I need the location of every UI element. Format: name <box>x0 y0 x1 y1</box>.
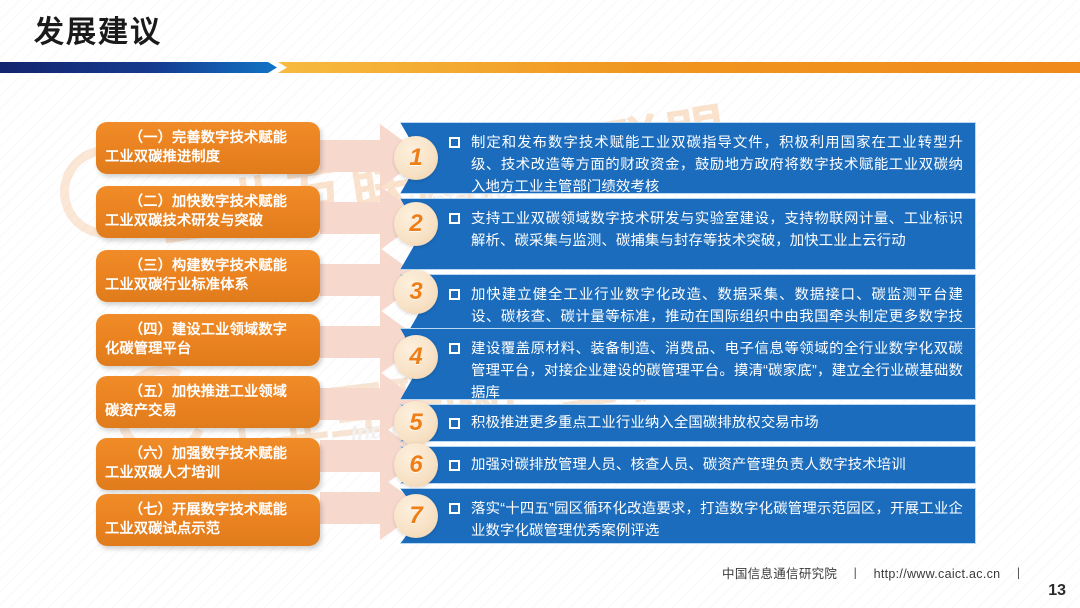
detail-text: 落实“十四五”园区循环化改造要求，打造数字化碳管理示范园区，开展工业企业数字化碳… <box>471 498 963 542</box>
detail-text: 积极推进更多重点工业行业纳入全国碳排放权交易市场 <box>471 412 963 434</box>
hollow-square-bullet-icon <box>449 418 460 429</box>
detail-panel-7[interactable]: 落实“十四五”园区循环化改造要求，打造数字化碳管理示范园区，开展工业企业数字化碳… <box>400 488 976 544</box>
recommendation-pill-6[interactable]: （六）加强数字技术赋能 工业双碳人才培训 <box>96 438 320 490</box>
step-number-badge-7: 7 <box>394 494 438 538</box>
detail-panel-2[interactable]: 支持工业双碳领域数字技术研发与实验室建设，支持物联网计量、工业标识解析、碳采集与… <box>400 198 976 270</box>
step-number-badge-1: 1 <box>394 136 438 180</box>
step-number: 6 <box>409 453 422 477</box>
detail-panel-4[interactable]: 建设覆盖原材料、装备制造、消费品、电子信息等领域的全行业数字化双碳管理平台，对接… <box>400 328 976 400</box>
hollow-square-bullet-icon <box>449 503 460 514</box>
slide-canvas: 发展建议 工业互联网产业联盟 Industrial Internet 工业互联网… <box>0 0 1080 608</box>
detail-panel-6[interactable]: 加强对碳排放管理人员、核查人员、碳资产管理负责人数字技术培训 <box>400 446 976 484</box>
page-number: 13 <box>1048 582 1066 600</box>
hollow-square-bullet-icon <box>449 460 460 471</box>
pill-line1: （二）加快数字技术赋能 <box>105 193 311 212</box>
detail-text: 加强对碳排放管理人员、核查人员、碳资产管理负责人数字技术培训 <box>471 454 963 476</box>
pill-line2: 工业双碳人才培训 <box>105 464 311 483</box>
recommendation-pill-5[interactable]: （五）加快推进工业领域 碳资产交易 <box>96 376 320 428</box>
recommendation-pill-2[interactable]: （二）加快数字技术赋能 工业双碳技术研发与突破 <box>96 186 320 238</box>
step-number-badge-5: 5 <box>394 401 438 445</box>
footer-separator-2: 丨 <box>1012 567 1025 581</box>
step-number: 3 <box>409 280 422 304</box>
step-number-badge-2: 2 <box>394 202 438 246</box>
recommendation-pill-1[interactable]: （一）完善数字技术赋能 工业双碳推进制度 <box>96 122 320 174</box>
step-number: 7 <box>409 504 422 528</box>
footer-org: 中国信息通信研究院 <box>722 567 837 581</box>
detail-panel-5[interactable]: 积极推进更多重点工业行业纳入全国碳排放权交易市场 <box>400 404 976 442</box>
footer-separator-1: 丨 <box>849 567 862 581</box>
step-number: 2 <box>409 212 422 236</box>
detail-text: 建设覆盖原材料、装备制造、消费品、电子信息等领域的全行业数字化双碳管理平台，对接… <box>471 338 963 404</box>
pill-line2: 工业双碳技术研发与突破 <box>105 212 311 231</box>
pill-line1: （四）建设工业领域数字 <box>105 321 311 340</box>
step-number: 4 <box>409 345 422 369</box>
step-number-badge-3: 3 <box>394 270 438 314</box>
step-number-badge-6: 6 <box>394 443 438 487</box>
hollow-square-bullet-icon <box>449 289 460 300</box>
pill-line1: （七）开展数字技术赋能 <box>105 501 311 520</box>
detail-text: 支持工业双碳领域数字技术研发与实验室建设，支持物联网计量、工业标识解析、碳采集与… <box>471 208 963 252</box>
pill-line2: 碳资产交易 <box>105 402 311 421</box>
step-number: 5 <box>409 411 422 435</box>
pill-line1: （一）完善数字技术赋能 <box>105 129 311 148</box>
recommendation-pill-3[interactable]: （三）构建数字技术赋能 工业双碳行业标准体系 <box>96 250 320 302</box>
pill-line1: （五）加快推进工业领域 <box>105 383 311 402</box>
detail-text: 制定和发布数字技术赋能工业双碳指导文件，积极利用国家在工业转型升级、技术改造等方… <box>471 132 963 198</box>
footer-url[interactable]: http://www.caict.ac.cn <box>874 567 1001 581</box>
pill-line1: （三）构建数字技术赋能 <box>105 257 311 276</box>
hollow-square-bullet-icon <box>449 213 460 224</box>
step-number: 1 <box>409 146 422 170</box>
pill-line1: （六）加强数字技术赋能 <box>105 445 311 464</box>
hollow-square-bullet-icon <box>449 137 460 148</box>
detail-panel-1[interactable]: 制定和发布数字技术赋能工业双碳指导文件，积极利用国家在工业转型升级、技术改造等方… <box>400 122 976 194</box>
footer: 中国信息通信研究院 丨 http://www.caict.ac.cn 丨 <box>722 563 1033 582</box>
step-number-badge-4: 4 <box>394 335 438 379</box>
recommendation-pill-4[interactable]: （四）建设工业领域数字 化碳管理平台 <box>96 314 320 366</box>
recommendation-pill-7[interactable]: （七）开展数字技术赋能 工业双碳试点示范 <box>96 494 320 546</box>
hollow-square-bullet-icon <box>449 343 460 354</box>
pill-line2: 工业双碳试点示范 <box>105 520 311 539</box>
pill-line2: 工业双碳行业标准体系 <box>105 276 311 295</box>
pill-line2: 工业双碳推进制度 <box>105 148 311 167</box>
pill-line2: 化碳管理平台 <box>105 340 311 359</box>
